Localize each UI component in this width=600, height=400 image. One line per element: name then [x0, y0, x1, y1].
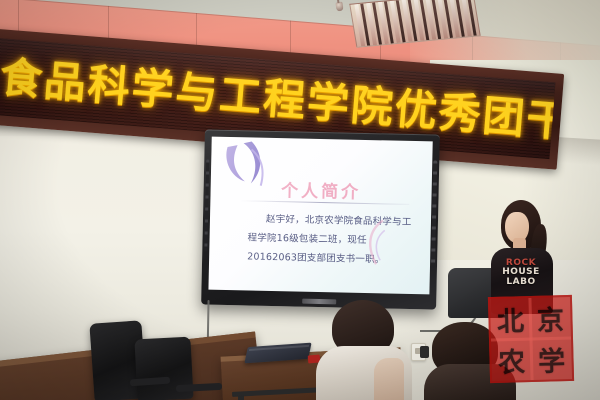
audience-member-one [316, 300, 412, 400]
watermark-char-2: 京 [530, 297, 571, 339]
shirt-line-3: LABO [506, 278, 535, 287]
smoke-detector-icon [335, 2, 343, 12]
display-left-buttons[interactable] [204, 159, 209, 251]
photo-scene: 食品科学与工程学院优秀团干部答辩 个人简介 赵宇好，北京农学院食品科学与工程学院… [0, 0, 600, 400]
display-side-buttons[interactable] [431, 160, 437, 264]
shirt-graphic-text: ROCK HOUSE LABO [503, 258, 539, 288]
watermark-char-3: 农 [491, 339, 532, 381]
slide-canvas: 个人简介 赵宇好，北京农学院食品科学与工程学院16级包装二班，现任2016206… [208, 137, 432, 295]
presentation-display[interactable]: 个人简介 赵宇好，北京农学院食品科学与工程学院16级包装二班，现任2016206… [201, 129, 440, 309]
watermark-seal: 北 京 农 学 [488, 295, 574, 383]
watermark-char-1: 北 [490, 298, 531, 340]
display-bezel: 个人简介 赵宇好，北京农学院食品科学与工程学院16级包装二班，现任2016206… [201, 129, 440, 309]
audience-one-shoulder [374, 358, 404, 400]
slide-body-text: 赵宇好，北京农学院食品科学与工程学院16级包装二班，现任20162063团支部团… [247, 209, 413, 270]
watermark-char-4: 学 [531, 338, 572, 380]
